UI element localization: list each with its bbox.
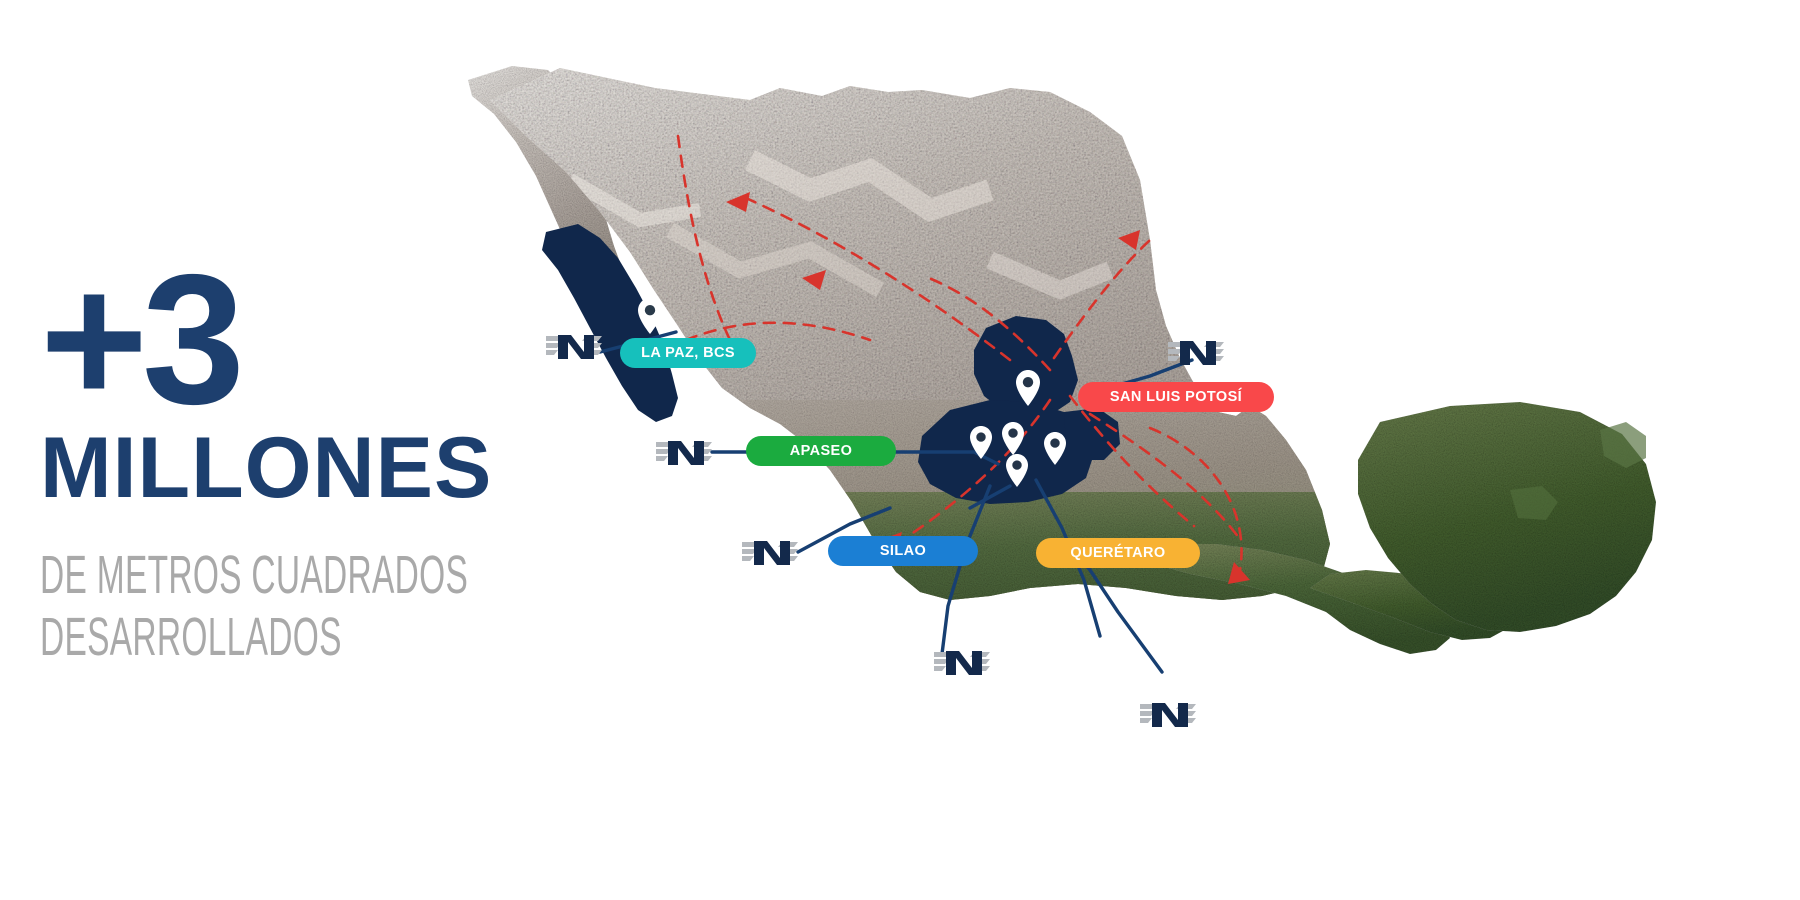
- label-apaseo[interactable]: APASEO: [746, 436, 896, 466]
- label-queretaro-text: QUERÉTARO: [1070, 545, 1165, 561]
- logo-icon-la-paz: [546, 332, 602, 362]
- subtitle-line-2: DESARROLLADOS: [40, 607, 424, 669]
- logo-icon-queretaro: [934, 648, 990, 678]
- label-san-luis-potosi-text: SAN LUIS POTOSÍ: [1110, 389, 1242, 405]
- label-queretaro[interactable]: QUERÉTARO: [1036, 538, 1200, 568]
- logo-n-shape: [1180, 341, 1216, 365]
- location-labels: LA PAZ, BCS APASEO SILAO SAN LUIS POTOSÍ…: [450, 40, 1800, 760]
- label-la-paz[interactable]: LA PAZ, BCS: [620, 338, 756, 368]
- label-san-luis-potosi[interactable]: SAN LUIS POTOSÍ: [1078, 382, 1274, 412]
- label-la-paz-text: LA PAZ, BCS: [641, 345, 735, 361]
- infographic-canvas: +3 MILLONES DE METROS CUADRADOS DESARROL…: [0, 0, 1800, 900]
- logo-n-shape: [1152, 703, 1188, 727]
- logo-icon-apaseo: [656, 438, 712, 468]
- label-silao[interactable]: SILAO: [828, 536, 978, 566]
- logo-icon-bottom: [1140, 700, 1196, 730]
- logo-icon-silao: [742, 538, 798, 568]
- logo-n-shape: [946, 651, 982, 675]
- logo-icon-san-luis-potosi: [1168, 338, 1224, 368]
- logo-n-shape: [558, 335, 594, 359]
- headline-subtitle: DE METROS CUADRADOS DESARROLLADOS: [40, 545, 424, 668]
- mexico-map: LA PAZ, BCS APASEO SILAO SAN LUIS POTOSÍ…: [450, 40, 1800, 760]
- logo-n-shape: [668, 441, 704, 465]
- label-apaseo-text: APASEO: [790, 443, 853, 459]
- label-silao-text: SILAO: [880, 543, 926, 559]
- subtitle-line-1: DE METROS CUADRADOS: [40, 545, 424, 607]
- logo-n-shape: [754, 541, 790, 565]
